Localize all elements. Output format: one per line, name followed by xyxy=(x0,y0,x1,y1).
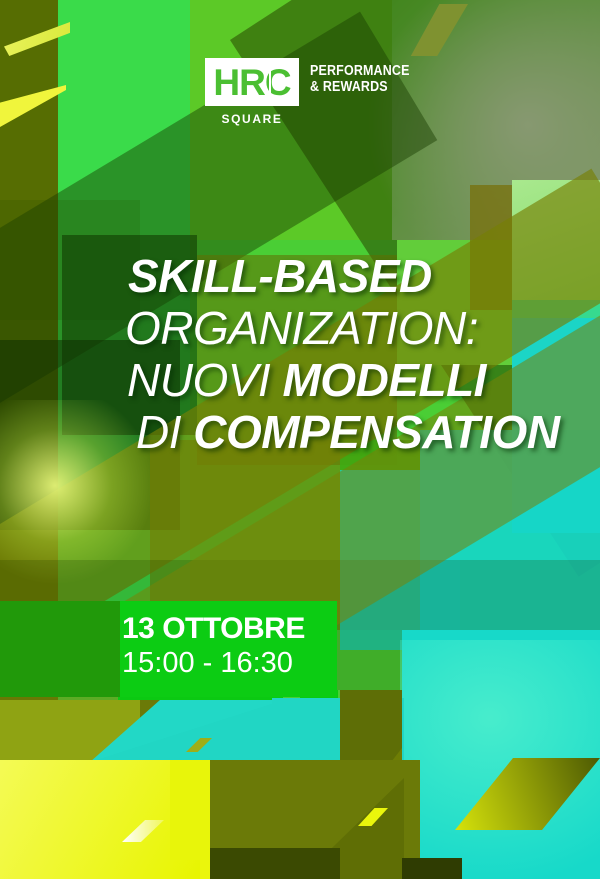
brand-tagline: PERFORMANCE & REWARDS xyxy=(310,64,410,95)
title-line-4: DI COMPENSATION xyxy=(136,406,588,458)
title-line-2-text: ORGANIZATION: xyxy=(125,302,478,354)
event-datetime: 13 OTTOBRE 15:00 - 16:30 xyxy=(122,612,337,680)
title-line-3: NUOVI MODELLI xyxy=(127,354,588,406)
dark-corner-block xyxy=(210,848,340,879)
event-date-box-shade xyxy=(0,601,120,697)
event-poster: HRC SQUARE PERFORMANCE & REWARDS SKILL-B… xyxy=(0,0,600,879)
title-line-3-regular: NUOVI xyxy=(127,354,282,406)
logo-hrc-text: HRC xyxy=(205,58,299,106)
title-line-3-bold: MODELLI xyxy=(282,354,485,406)
logo-divider xyxy=(269,58,271,106)
title-line-2: ORGANIZATION: xyxy=(125,302,588,354)
title-line-1-text: SKILL-BASED xyxy=(128,250,432,302)
title-line-4-regular: DI xyxy=(136,406,193,458)
page-title: SKILL-BASED ORGANIZATION: NUOVI MODELLI … xyxy=(128,250,588,458)
event-time: 15:00 - 16:30 xyxy=(122,646,337,680)
tagline-line-1: PERFORMANCE xyxy=(310,64,410,80)
title-line-1: SKILL-BASED xyxy=(128,250,588,302)
tagline-line-2: & REWARDS xyxy=(310,80,410,96)
logo-square-text: SQUARE xyxy=(205,112,299,126)
title-line-4-bold: COMPENSATION xyxy=(193,406,559,458)
brand-logo: HRC SQUARE PERFORMANCE & REWARDS xyxy=(205,58,405,138)
event-date: 13 OTTOBRE xyxy=(122,612,337,646)
dark-corner-block-2 xyxy=(402,858,462,879)
